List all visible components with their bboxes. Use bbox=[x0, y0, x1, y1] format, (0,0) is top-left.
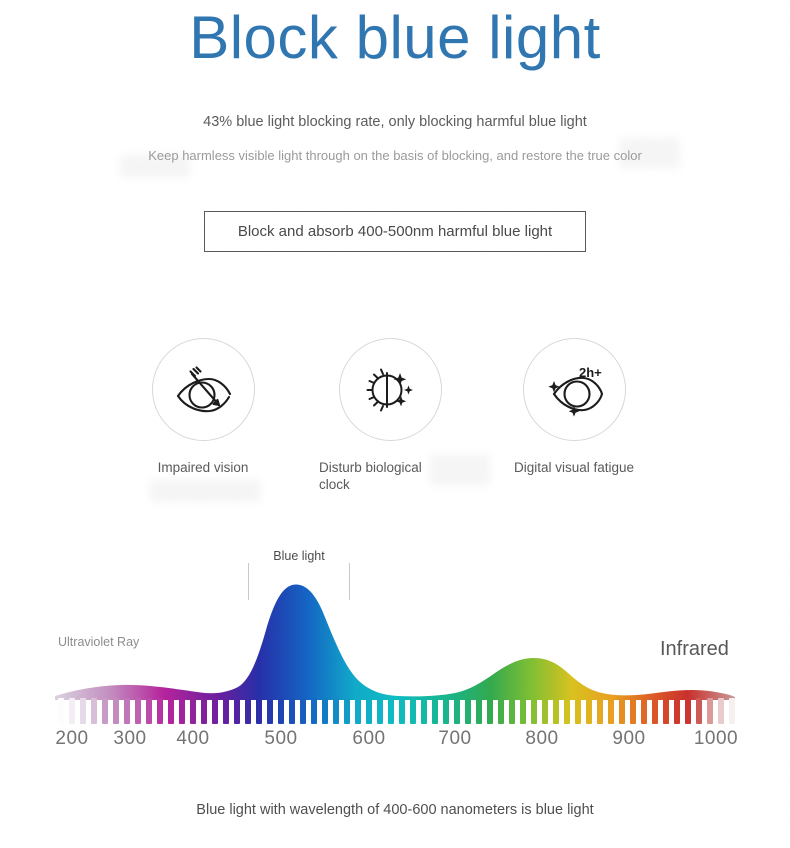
blue-light-bracket bbox=[248, 562, 350, 600]
axis-tick-800: 800 bbox=[525, 728, 558, 750]
ultraviolet-label-text: Ultraviolet Ray bbox=[58, 635, 139, 649]
callout-text: Block and absorb 400-500nm harmful blue … bbox=[238, 223, 552, 240]
blue-light-bracket-label: Blue light bbox=[248, 548, 350, 563]
symptom-item-visual-fatigue: 2h+ Digital visual fatigue bbox=[469, 338, 679, 476]
chart-caption: Blue light with wavelength of 400-600 na… bbox=[0, 802, 790, 818]
subtitle-primary: 43% blue light blocking rate, only block… bbox=[0, 114, 790, 130]
spectrum-stripe bbox=[223, 698, 229, 724]
symptom-circle bbox=[152, 338, 255, 441]
spectrum-area bbox=[55, 584, 735, 700]
eye-fatigue-icon: 2h+ bbox=[541, 361, 607, 419]
spectrum-stripe bbox=[58, 698, 64, 724]
spectrum-stripe-bar bbox=[58, 698, 735, 724]
spectrum-stripe bbox=[80, 698, 86, 724]
spectrum-stripe bbox=[597, 698, 603, 724]
spectrum-stripe bbox=[652, 698, 658, 724]
spectrum-stripe bbox=[487, 698, 493, 724]
spectrum-stripe bbox=[157, 698, 163, 724]
symptom-list: Impaired vision bbox=[0, 338, 790, 498]
sun-moon-icon bbox=[359, 360, 421, 420]
spectrum-stripe bbox=[201, 698, 207, 724]
spectrum-stripe bbox=[124, 698, 130, 724]
axis-tick-900: 900 bbox=[612, 728, 645, 750]
spectrum-stripe bbox=[179, 698, 185, 724]
symptom-label: Impaired vision bbox=[98, 459, 308, 476]
symptom-circle: 2h+ bbox=[523, 338, 626, 441]
spectrum-stripe bbox=[498, 698, 504, 724]
spectrum-stripe bbox=[421, 698, 427, 724]
spectrum-stripe bbox=[641, 698, 647, 724]
spectrum-stripe bbox=[718, 698, 724, 724]
fatigue-badge-text: 2h+ bbox=[579, 365, 602, 380]
spectrum-stripe bbox=[234, 698, 240, 724]
ultraviolet-label: Ultraviolet Ray bbox=[58, 635, 139, 650]
symptom-circle bbox=[339, 338, 442, 441]
spectrum-stripe bbox=[190, 698, 196, 724]
spectrum-stripe bbox=[685, 698, 691, 724]
spectrum-stripe bbox=[707, 698, 713, 724]
spectrum-stripe bbox=[355, 698, 361, 724]
spectrum-stripe bbox=[91, 698, 97, 724]
symptom-item-impaired-vision: Impaired vision bbox=[98, 338, 308, 476]
spectrum-stripe bbox=[168, 698, 174, 724]
spectrum-stripe bbox=[542, 698, 548, 724]
axis-tick-700: 700 bbox=[438, 728, 471, 750]
axis-tick-200: 200 bbox=[55, 728, 88, 750]
spectrum-stripe bbox=[278, 698, 284, 724]
spectrum-stripe bbox=[663, 698, 669, 724]
symptom-item-biological-clock: Disturb biological clock bbox=[285, 338, 495, 493]
spectrum-stripe bbox=[553, 698, 559, 724]
spectrum-stripe bbox=[531, 698, 537, 724]
axis-tick-300: 300 bbox=[113, 728, 146, 750]
spectrum-stripe bbox=[520, 698, 526, 724]
spectrum-stripe bbox=[399, 698, 405, 724]
spectrum-stripe bbox=[586, 698, 592, 724]
spectrum-stripe bbox=[300, 698, 306, 724]
spectrum-stripe bbox=[344, 698, 350, 724]
spectrum-stripe bbox=[410, 698, 416, 724]
spectrum-stripe bbox=[289, 698, 295, 724]
spectrum-stripe bbox=[696, 698, 702, 724]
wavelength-axis: 2003004005006007008009001000 bbox=[0, 728, 790, 758]
eye-arrow-icon bbox=[172, 362, 234, 418]
symptom-label: Disturb biological clock bbox=[319, 459, 445, 493]
page-title: Block blue light bbox=[0, 2, 790, 74]
spectrum-stripe bbox=[135, 698, 141, 724]
spectrum-stripe bbox=[245, 698, 251, 724]
spectrum-chart: Blue light Ultraviolet Ray Infrared 2003… bbox=[0, 530, 790, 770]
spectrum-stripe bbox=[366, 698, 372, 724]
spectrum-stripe bbox=[102, 698, 108, 724]
spectrum-stripe bbox=[630, 698, 636, 724]
spectrum-stripe bbox=[333, 698, 339, 724]
spectrum-stripe bbox=[509, 698, 515, 724]
spectrum-stripe bbox=[377, 698, 383, 724]
spectrum-stripe bbox=[674, 698, 680, 724]
spectrum-stripe bbox=[619, 698, 625, 724]
spectrum-stripe bbox=[113, 698, 119, 724]
spectrum-stripe bbox=[311, 698, 317, 724]
axis-tick-400: 400 bbox=[176, 728, 209, 750]
axis-tick-600: 600 bbox=[352, 728, 385, 750]
spectrum-stripe bbox=[608, 698, 614, 724]
spectrum-stripe bbox=[575, 698, 581, 724]
spectrum-stripe bbox=[432, 698, 438, 724]
axis-tick-500: 500 bbox=[264, 728, 297, 750]
spectrum-stripe bbox=[212, 698, 218, 724]
spectrum-stripe bbox=[69, 698, 75, 724]
spectrum-stripe bbox=[256, 698, 262, 724]
spectrum-stripe bbox=[322, 698, 328, 724]
blue-light-label-text: Blue light bbox=[273, 549, 324, 563]
spectrum-stripe bbox=[476, 698, 482, 724]
spectrum-stripe bbox=[388, 698, 394, 724]
spectrum-stripe bbox=[146, 698, 152, 724]
spectrum-stripe bbox=[564, 698, 570, 724]
spectrum-stripe bbox=[443, 698, 449, 724]
subtitle-secondary: Keep harmless visible light through on t… bbox=[0, 148, 790, 163]
spectrum-stripe bbox=[267, 698, 273, 724]
axis-tick-1000: 1000 bbox=[694, 728, 738, 750]
spectrum-stripe bbox=[454, 698, 460, 724]
spectrum-stripe bbox=[729, 698, 735, 724]
infrared-label: Infrared bbox=[660, 638, 729, 661]
callout-box: Block and absorb 400-500nm harmful blue … bbox=[204, 211, 586, 252]
spectrum-stripe bbox=[465, 698, 471, 724]
spectrum-curve bbox=[0, 530, 790, 705]
symptom-label: Digital visual fatigue bbox=[469, 459, 679, 476]
